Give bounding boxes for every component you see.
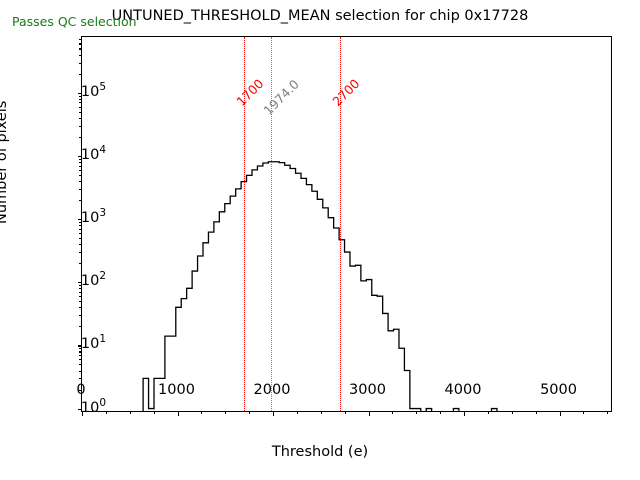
x-tick-5000 (560, 411, 561, 416)
x-minor-tick (440, 411, 441, 414)
y-minor-tick (79, 112, 82, 113)
y-minor-tick (79, 238, 82, 239)
x-minor-tick (345, 411, 346, 414)
x-minor-tick (201, 411, 202, 414)
x-minor-tick (249, 411, 250, 414)
x-minor-tick (536, 411, 537, 414)
y-minor-tick (79, 359, 82, 360)
y-minor-tick (79, 107, 82, 108)
y-minor-tick (79, 378, 82, 379)
y-minor-tick (79, 118, 82, 119)
histogram-outline (143, 162, 502, 411)
y-minor-tick (79, 315, 82, 316)
x-minor-tick (225, 411, 226, 414)
y-minor-tick (79, 102, 82, 103)
y-minor-tick (79, 170, 82, 171)
y-minor-tick (79, 307, 82, 308)
y-tick-label-1e5: 105 (81, 84, 106, 100)
x-minor-tick (416, 411, 417, 414)
x-minor-tick (607, 411, 608, 414)
y-tick-label-1e3: 103 (81, 210, 106, 226)
y-tick-label-1e4: 104 (81, 147, 106, 163)
qc-selection-annotation: Passes QC selection (12, 14, 137, 29)
y-minor-tick (79, 292, 82, 293)
y-minor-tick (79, 39, 82, 40)
x-tick-label-3000: 3000 (349, 382, 386, 398)
x-tick-2000 (273, 411, 274, 416)
x-minor-tick (583, 411, 584, 414)
histogram-figure: UNTUNED_THRESHOLD_MEAN selection for chi… (0, 0, 640, 480)
y-minor-tick (79, 43, 82, 44)
x-tick-1000 (178, 411, 179, 416)
x-tick-label-0: 0 (76, 382, 85, 398)
y-minor-tick (79, 233, 82, 234)
x-tick-label-4000: 4000 (445, 382, 482, 398)
x-tick-label-5000: 5000 (540, 382, 577, 398)
y-tick-label-1e0: 100 (81, 400, 106, 416)
y-minor-tick (79, 126, 82, 127)
y-minor-tick (79, 48, 82, 49)
x-minor-tick (392, 411, 393, 414)
x-minor-tick (321, 411, 322, 414)
x-minor-tick (488, 411, 489, 414)
y-minor-tick (79, 55, 82, 56)
y-minor-tick (79, 175, 82, 176)
y-minor-tick (79, 263, 82, 264)
y-minor-tick (79, 200, 82, 201)
y-minor-tick (79, 252, 82, 253)
y-minor-tick (79, 74, 82, 75)
y-tick-label-1e1: 101 (81, 336, 106, 352)
y-minor-tick (79, 301, 82, 302)
y-minor-tick (79, 189, 82, 190)
y-minor-tick (79, 166, 82, 167)
y-minor-tick (79, 326, 82, 327)
y-minor-tick (79, 355, 82, 356)
y-minor-tick (79, 244, 82, 245)
x-axis-label: Threshold (e) (0, 444, 640, 460)
y-minor-tick (79, 364, 82, 365)
y-minor-tick (79, 181, 82, 182)
threshold-vline-1974.0 (271, 37, 272, 411)
x-tick-3000 (369, 411, 370, 416)
x-minor-tick (297, 411, 298, 414)
x-minor-tick (106, 411, 107, 414)
y-tick-label-1e2: 102 (81, 273, 106, 289)
x-tick-label-2000: 2000 (254, 382, 291, 398)
x-tick-label-1000: 1000 (158, 382, 195, 398)
y-axis-label: Number of pixels (0, 101, 10, 224)
y-minor-tick (79, 229, 82, 230)
x-minor-tick (130, 411, 131, 414)
y-minor-tick (79, 63, 82, 64)
x-tick-4000 (464, 411, 465, 416)
x-minor-tick (512, 411, 513, 414)
y-minor-tick (79, 137, 82, 138)
x-minor-tick (154, 411, 155, 414)
y-minor-tick (79, 371, 82, 372)
y-minor-tick (79, 296, 82, 297)
